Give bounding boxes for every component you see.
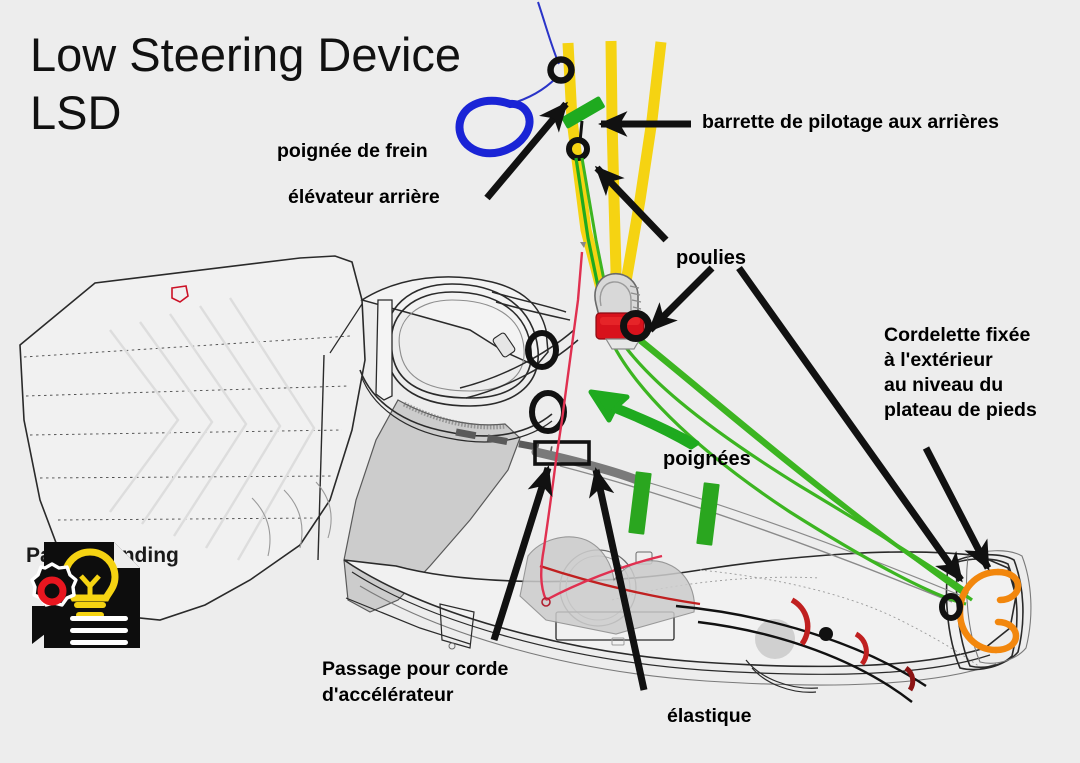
- label-cordelette-line4: plateau de pieds: [884, 399, 1037, 422]
- label-cordelette-line3: au niveau du: [884, 374, 1003, 397]
- handle-bars-green: [628, 471, 719, 545]
- riser-ring-upper: [551, 60, 572, 81]
- label-cordelette-line1: Cordelette fixée: [884, 324, 1030, 347]
- label-passage-line2: d'accélérateur: [322, 684, 453, 707]
- label-rear-riser: élévateur arrière: [288, 186, 440, 209]
- label-handles: poignées: [663, 448, 751, 471]
- label-cordelette-line2: à l'extérieur: [884, 349, 993, 372]
- patent-pending-block: Patent Pending Eric Laforge: [18, 540, 218, 601]
- label-pulleys: poulies: [676, 247, 746, 270]
- page-title-line1: Low Steering Device: [30, 30, 461, 80]
- label-elastic: élastique: [667, 705, 752, 728]
- diagram-canvas: Low Steering Device LSD poignée de frein…: [0, 0, 1080, 763]
- label-passage-line1: Passage pour corde: [322, 658, 508, 681]
- page-title-line2: LSD: [30, 88, 121, 138]
- harness-pod-outline: [20, 256, 1031, 692]
- pull-direction-arrow: [591, 392, 697, 447]
- carabiner-pulley-assembly: [595, 274, 649, 349]
- patent-document-icon: [18, 540, 168, 652]
- label-steering-bar: barrette de pilotage aux arrières: [702, 111, 999, 134]
- label-brake-handle: poignée de frein: [277, 140, 428, 163]
